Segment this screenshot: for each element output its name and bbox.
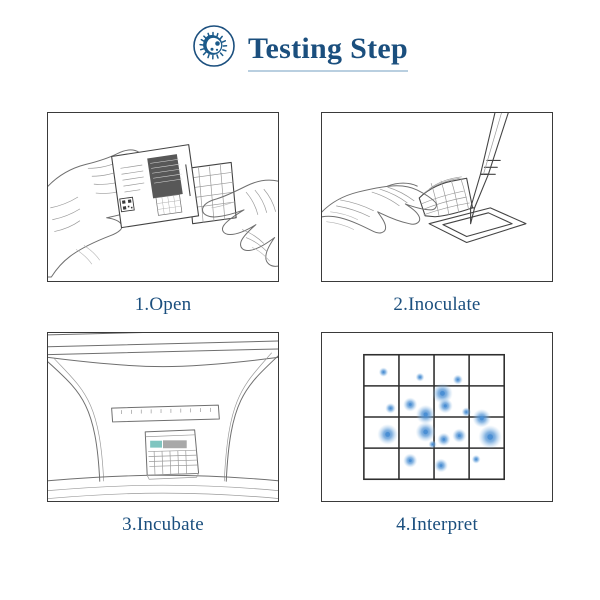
page-title-wrap: Testing Step bbox=[248, 33, 408, 73]
step-4-caption: 4.Interpret bbox=[396, 514, 478, 536]
bacteria-icon bbox=[192, 24, 236, 68]
page-title: Testing Step bbox=[248, 33, 408, 65]
header: Testing Step bbox=[0, 24, 600, 72]
illustration-frame-inoculate bbox=[321, 112, 553, 282]
illustration-frame-open bbox=[47, 112, 279, 282]
testing-step-infographic: Testing Step bbox=[0, 0, 600, 600]
step-2-inoculate: 2.Inoculate bbox=[320, 112, 554, 326]
step-3-incubate: 3.Incubate bbox=[46, 332, 280, 546]
incubator-interior-illustration bbox=[48, 333, 278, 501]
step-1-open: 1.Open bbox=[46, 112, 280, 326]
step-1-caption: 1.Open bbox=[135, 294, 192, 316]
gloved-hands-opening-test-kit-illustration bbox=[48, 113, 278, 281]
illustration-frame-incubate bbox=[47, 332, 279, 502]
step-3-caption: 3.Incubate bbox=[122, 514, 204, 536]
step-4-interpret: 4.Interpret bbox=[320, 332, 554, 546]
steps-grid: 1.Open bbox=[0, 112, 600, 546]
illustration-frame-interpret bbox=[321, 332, 553, 502]
title-underline bbox=[248, 70, 408, 72]
gloved-hand-pipette-illustration bbox=[322, 113, 552, 281]
colony-count-grid-illustration bbox=[322, 333, 552, 501]
step-2-caption: 2.Inoculate bbox=[393, 294, 480, 316]
colony-dots bbox=[377, 367, 502, 472]
